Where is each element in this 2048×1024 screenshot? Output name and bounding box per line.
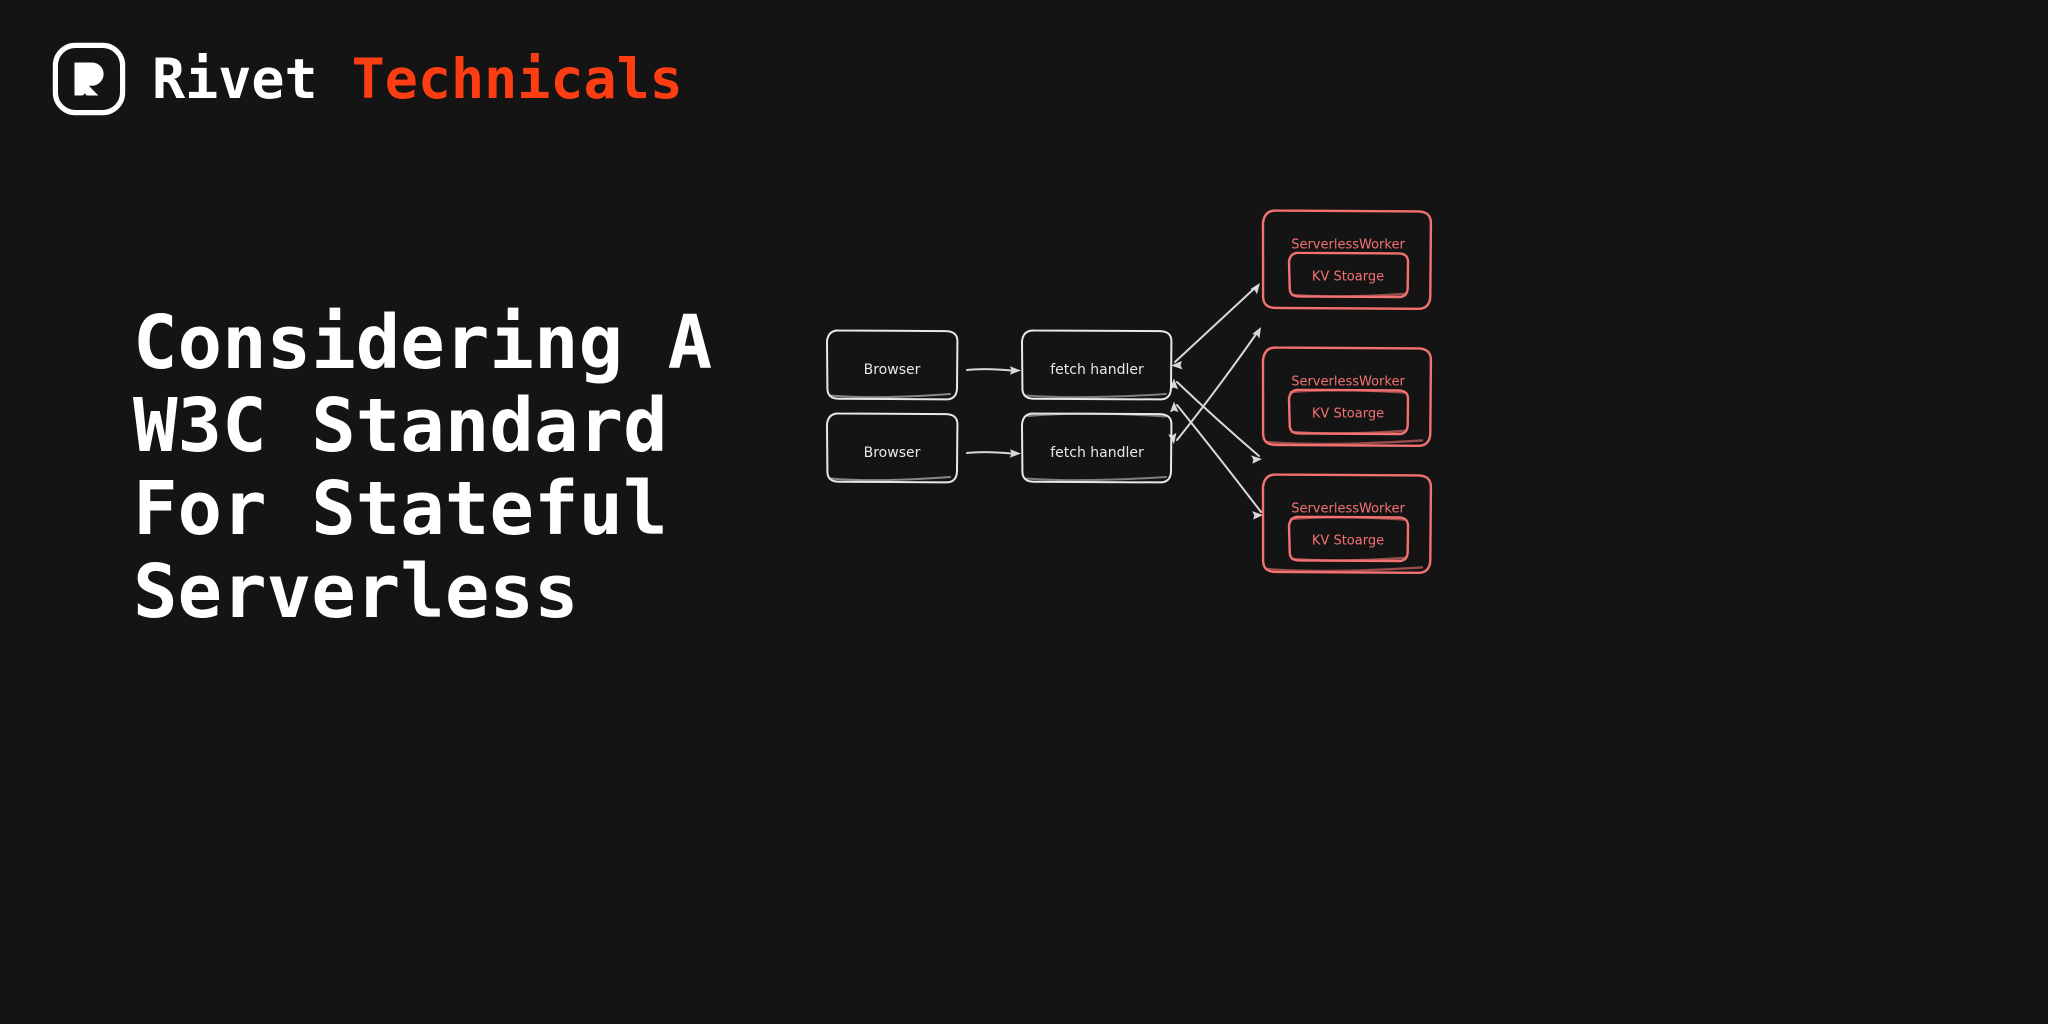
diagram-node-worker-2-kv-storage-label: KV Stoarge — [1312, 407, 1384, 422]
diagram-node-fetch-handler-2: fetch handler — [1022, 413, 1171, 482]
diagram-node-browser-2-label: Browser — [864, 445, 921, 461]
diagram-node-browser-1: Browser — [827, 330, 957, 399]
diagram-node-fetch-handler-2-label: fetch handler — [1050, 445, 1144, 461]
diagram-node-worker-1-kv-storage: KV Stoarge — [1289, 253, 1408, 297]
page-title: Considering A W3C Standard For Stateful … — [133, 302, 773, 634]
diagram-node-fetch-handler-1-label: fetch handler — [1050, 362, 1144, 378]
page-title-line-2: W3C Standard — [133, 385, 773, 468]
page-title-line-4: Serverless — [133, 551, 773, 634]
brand-header: RivetTechnicals — [52, 42, 683, 116]
brand-suffix: Technicals — [352, 52, 683, 107]
edge-browser-1-to-fetch-handler-1 — [967, 366, 1021, 374]
diagram-node-browser-2: Browser — [827, 413, 957, 482]
diagram-node-serverless-worker-3-label: ServerlessWorker — [1291, 502, 1405, 517]
diagram-node-serverless-worker-2-label: ServerlessWorker — [1291, 375, 1405, 390]
page-title-line-3: For Stateful — [133, 468, 773, 551]
diagram-node-worker-2-kv-storage: KV Stoarge — [1289, 390, 1408, 434]
diagram-node-serverless-worker-3: ServerlessWorker KV Stoarge — [1263, 475, 1431, 573]
diagram-node-worker-3-kv-storage-label: KV Stoarge — [1312, 534, 1384, 549]
page-title-line-1: Considering A — [133, 302, 773, 385]
diagram-edges — [967, 283, 1263, 520]
diagram-node-worker-3-kv-storage: KV Stoarge — [1289, 517, 1408, 561]
architecture-diagram: Browser Browser fetch handler fetch hand… — [800, 190, 1480, 610]
diagram-node-fetch-handler-1: fetch handler — [1022, 330, 1171, 399]
brand-wordmark: RivetTechnicals — [152, 52, 683, 107]
rivet-r-logo-icon — [52, 42, 126, 116]
diagram-node-browser-1-label: Browser — [864, 362, 921, 378]
diagram-node-serverless-worker-1-label: ServerlessWorker — [1291, 238, 1405, 253]
diagram-node-serverless-worker-2: ServerlessWorker KV Stoarge — [1263, 348, 1431, 446]
edge-browser-2-to-fetch-handler-2 — [967, 449, 1021, 457]
diagram-node-serverless-worker-1: ServerlessWorker KV Stoarge — [1263, 211, 1431, 309]
edge-fetch-handler-1-to-worker-1 — [1171, 283, 1260, 369]
diagram-node-worker-1-kv-storage-label: KV Stoarge — [1312, 270, 1384, 285]
brand-name: Rivet — [152, 52, 318, 107]
